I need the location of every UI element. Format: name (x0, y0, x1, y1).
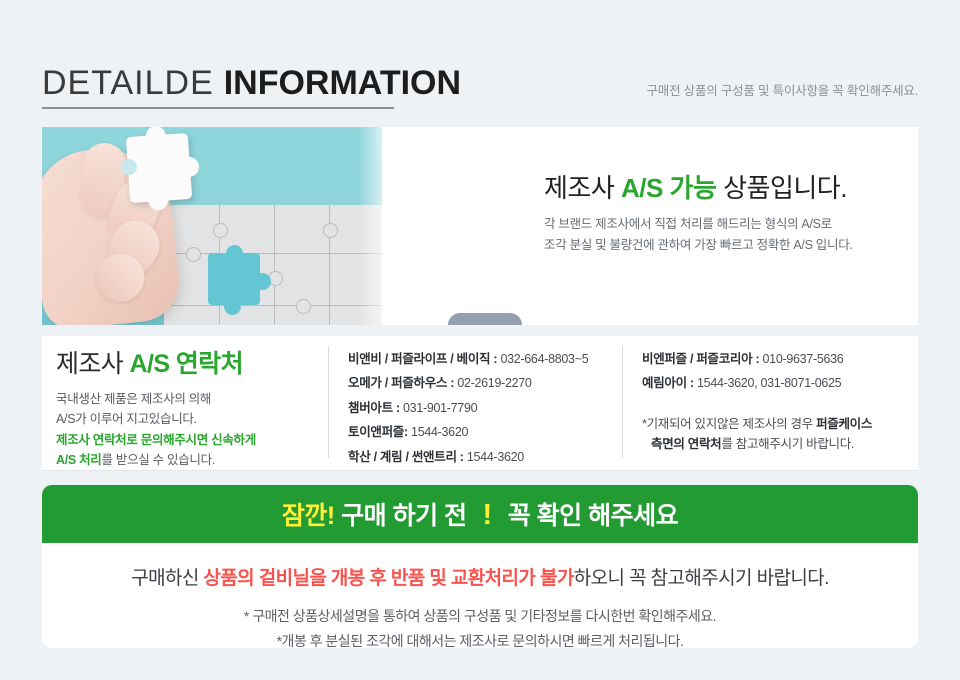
notice-banner-exclamation: ! (483, 499, 492, 531)
contact-intro: 제조사 A/S 연락처 국내생산 제품은 제조사의 의해 A/S가 이루어 지고… (56, 344, 328, 470)
contact-column-mid: 비앤비 / 퍼즐라이프 / 베이직 : 032-664-8803~5 오메가 /… (348, 347, 616, 469)
notice-banner-yellow: 잠깐! (282, 502, 335, 530)
puzzle-photo (42, 127, 382, 325)
contact-brand: 토이앤퍼즐: (348, 425, 411, 439)
header-title-row: DETAILDE INFORMATION 구매전 상품의 구성품 및 특이사항을… (42, 66, 918, 102)
notice-card: 잠깐! 구매 하기 전!꼭 확인 해주세요 구매하신 상품의 겉비닐을 개봉 후… (42, 485, 918, 648)
contact-brand: 오메가 / 퍼즐하우스 : (348, 376, 457, 390)
contact-desc-line-4-rest: 를 받으실 수 있습니다. (102, 453, 216, 467)
notice-sub-lines: * 구매전 상품상세설명을 통하여 상품의 구성품 및 기타정보를 다시한번 확… (42, 604, 918, 648)
hero-sub-line-2: 조각 분실 및 불량건에 관하여 가장 빠르고 정확한 A/S 입니다. (544, 235, 918, 256)
contact-phone: 1544-3620 (467, 450, 524, 464)
contact-brand: 예림아이 : (642, 376, 697, 390)
contact-footnote-bold-2: 측면의 연락처 (651, 437, 721, 451)
contact-entry: 예림아이 : 1544-3620, 031-8071-0625 (642, 371, 910, 395)
contact-desc-line-2: A/S가 이루어 지고있습니다. (56, 409, 328, 429)
contact-phone: 1544-3620, 031-8071-0625 (697, 376, 841, 390)
contact-section: 제조사 A/S 연락처 국내생산 제품은 제조사의 의해 A/S가 이루어 지고… (42, 336, 918, 470)
contact-desc-line-4-green: A/S 처리 (56, 453, 102, 467)
notice-sub-line-2: *개봉 후 분실된 조각에 대해서는 제조사로 문의하시면 빠르게 처리됩니다. (42, 629, 918, 649)
contact-footnote-rest: 를 참고해주시기 바랍니다. (721, 437, 854, 451)
contact-brand: 비엔퍼즐 / 퍼즐코리아 : (642, 352, 763, 366)
puzzle-piece (126, 133, 192, 203)
hero-title-accent: A/S 가능 (621, 173, 716, 203)
contact-footnote-line-2: 측면의 연락처를 참고해주시기 바랍니다. (642, 434, 910, 454)
contact-desc-line-3: 제조사 연락처로 문의해주시면 신속하게 (56, 430, 328, 450)
notice-banner-white-2: 꼭 확인 해주세요 (508, 502, 678, 530)
page-header: DETAILDE INFORMATION 구매전 상품의 구성품 및 특이사항을… (42, 66, 918, 109)
hero-title-pre: 제조사 (544, 173, 621, 203)
contact-entry: 오메가 / 퍼즐하우스 : 02-2619-2270 (348, 371, 616, 395)
contact-phone: 031-901-7790 (403, 401, 477, 415)
contact-entry: 토이앤퍼즐: 1544-3620 (348, 420, 616, 444)
contact-footnote: *기재되어 있지않은 제조사의 경우 퍼즐케이스 측면의 연락처를 참고해주시기… (642, 414, 910, 454)
notice-banner-white-1: 구매 하기 전 (341, 502, 466, 530)
contact-footnote-bold-1: 퍼즐케이스 (816, 417, 872, 431)
contact-description: 국내생산 제품은 제조사의 의해 A/S가 이루어 지고있습니다. 제조사 연락… (56, 389, 328, 470)
section-divider (42, 470, 918, 471)
notice-main-highlight: 상품의 겉비닐을 개봉 후 반품 및 교환처리가 불가 (203, 568, 573, 589)
contact-phone: 1544-3620 (411, 425, 468, 439)
notice-body: 구매하신 상품의 겉비닐을 개봉 후 반품 및 교환처리가 불가하오니 꼭 참고… (42, 543, 918, 648)
notice-main-line: 구매하신 상품의 겉비닐을 개봉 후 반품 및 교환처리가 불가하오니 꼭 참고… (42, 563, 918, 590)
notice-sub-line-1: * 구매전 상품상세설명을 통하여 상품의 구성품 및 기타정보를 다시한번 확… (42, 604, 918, 629)
hero-title-post: 상품입니다. (716, 173, 847, 203)
puzzle-board (164, 205, 382, 325)
hero-section: 제조사 A/S 가능 상품입니다. 각 브랜드 제조사에서 직접 처리를 해드리… (42, 127, 918, 325)
contact-heading: 제조사 A/S 연락처 (56, 344, 328, 380)
contact-entry: 학산 / 계림 / 썬앤트리 : 1544-3620 (348, 445, 616, 469)
contact-brand: 비앤비 / 퍼즐라이프 / 베이직 : (348, 352, 500, 366)
hero-title: 제조사 A/S 가능 상품입니다. (544, 173, 918, 204)
contact-brand: 학산 / 계림 / 썬앤트리 : (348, 450, 467, 464)
contact-entry: 비앤비 / 퍼즐라이프 / 베이직 : 032-664-8803~5 (348, 347, 616, 371)
column-divider-1 (328, 346, 329, 458)
contact-entry: 비엔퍼즐 / 퍼즐코리아 : 010-9637-5636 (642, 347, 910, 371)
contact-desc-line-1: 국내생산 제품은 제조사의 의해 (56, 389, 328, 409)
column-divider-2 (622, 346, 623, 458)
page-title-bold: INFORMATION (224, 64, 461, 102)
notice-main-post: 하오니 꼭 참고해주시기 바랍니다. (574, 568, 829, 589)
hero-subtext: 각 브랜드 제조사에서 직접 처리를 해드리는 형식의 A/S로 조각 분실 및… (544, 214, 918, 255)
hero-text: 제조사 A/S 가능 상품입니다. 각 브랜드 제조사에서 직접 처리를 해드리… (544, 173, 918, 255)
contact-heading-accent: A/S 연락처 (130, 350, 243, 378)
contact-heading-pre: 제조사 (56, 350, 130, 378)
contact-phone: 02-2619-2270 (457, 376, 531, 390)
notice-banner: 잠깐! 구매 하기 전!꼭 확인 해주세요 (42, 485, 918, 543)
notice-main-pre: 구매하신 (131, 568, 203, 589)
contact-phone: 010-9637-5636 (763, 352, 844, 366)
contact-footnote-pre: *기재되어 있지않은 제조사의 경우 (642, 417, 816, 431)
product-detail-page: DETAILDE INFORMATION 구매전 상품의 구성품 및 특이사항을… (0, 0, 960, 680)
header-note: 구매전 상품의 구성품 및 특이사항을 꼭 확인해주세요. (646, 80, 918, 102)
contact-entry: 챔버아트 : 031-901-7790 (348, 396, 616, 420)
page-title-light: DETAILDE (42, 64, 214, 102)
contact-phone: 032-664-8803~5 (500, 352, 588, 366)
contact-brand: 챔버아트 : (348, 401, 403, 415)
contact-desc-line-4: A/S 처리를 받으실 수 있습니다. (56, 450, 328, 470)
page-title: DETAILDE INFORMATION (42, 66, 461, 102)
photo-fade (358, 127, 382, 325)
contact-column-right: 비엔퍼즐 / 퍼즐코리아 : 010-9637-5636 예림아이 : 1544… (642, 347, 910, 454)
notice-banner-text: 잠깐! 구매 하기 전!꼭 확인 해주세요 (282, 496, 678, 532)
title-underline (42, 107, 394, 109)
hero-sub-line-1: 각 브랜드 제조사에서 직접 처리를 해드리는 형식의 A/S로 (544, 214, 918, 235)
gears-icon (448, 313, 522, 325)
